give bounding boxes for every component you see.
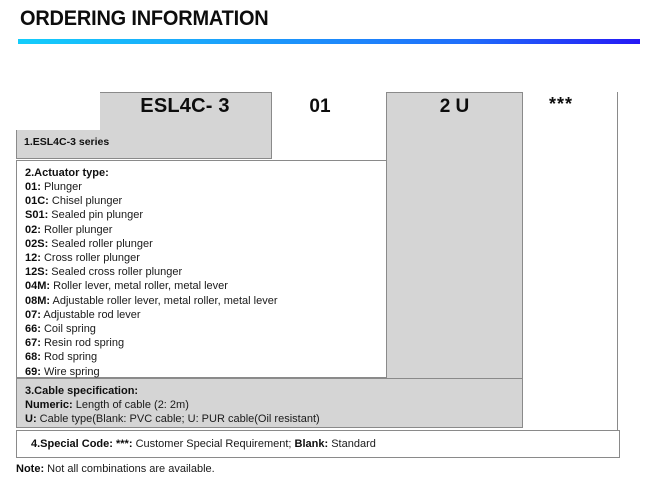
actuator-option-row: 04M: Roller lever, metal roller, metal l… (25, 279, 386, 293)
actuator-option-value: Cross roller plunger (41, 252, 140, 264)
special-blank-description: Standard (331, 438, 376, 450)
actuator-option-value: Resin rod spring (41, 337, 124, 349)
series-code-value: ESL4C- 3 (100, 95, 270, 118)
actuator-option-key: 07: (25, 309, 41, 321)
actuator-option-key: 66: (25, 323, 41, 335)
cable-option-key: Numeric: (25, 399, 73, 411)
actuator-option-row: 02: Roller plunger (25, 223, 386, 237)
note-text: Not all combinations are available. (47, 463, 215, 475)
actuator-option-row: 08M: Adjustable roller lever, metal roll… (25, 294, 386, 308)
actuator-option-key: 02: (25, 224, 41, 236)
actuator-section-heading: 2.Actuator type: (25, 166, 386, 180)
actuator-option-value: Coil spring (41, 323, 96, 335)
cable-section-heading: 3.Cable specification: (25, 384, 522, 398)
special-code-description: Customer Special Requirement; (136, 438, 292, 450)
special-code-key: ***: (116, 438, 133, 450)
actuator-option-key: 12S: (25, 266, 48, 278)
cable-specification-section: 3.Cable specification: Numeric: Length o… (16, 378, 523, 428)
actuator-option-row: 67: Resin rod spring (25, 336, 386, 350)
actuator-option-value: Roller lever, metal roller, metal lever (50, 280, 228, 292)
ordering-information-page: ORDERING INFORMATION ESL4C- 3 1.ESL4C-3 … (0, 0, 650, 490)
note-line: Note: Not all combinations are available… (16, 463, 215, 475)
actuator-option-row: 12S: Sealed cross roller plunger (25, 265, 386, 279)
cable-option-row: Numeric: Length of cable (2: 2m) (25, 398, 522, 412)
cable-option-value: Cable type(Blank: PVC cable; U: PUR cabl… (37, 413, 320, 425)
actuator-type-section: 2.Actuator type: 01: Plunger01C: Chisel … (16, 160, 387, 378)
actuator-option-value: Sealed pin plunger (48, 209, 143, 221)
actuator-option-row: 66: Coil spring (25, 322, 386, 336)
actuator-code-value: 01 (296, 96, 344, 118)
actuator-option-key: 69: (25, 366, 41, 378)
special-code-section: 4.Special Code: ***: Customer Special Re… (16, 430, 620, 458)
actuator-option-value: Sealed cross roller plunger (48, 266, 182, 278)
actuator-option-row: 07: Adjustable rod lever (25, 308, 386, 322)
note-key: Note: (16, 463, 44, 475)
actuator-option-value: Rod spring (41, 351, 97, 363)
actuator-option-value: Sealed roller plunger (48, 238, 153, 250)
cable-option-value: Length of cable (2: 2m) (73, 399, 189, 411)
cable-option-list: Numeric: Length of cable (2: 2m)U: Cable… (25, 398, 522, 426)
special-code-line: 4.Special Code: ***: Customer Special Re… (31, 437, 619, 451)
actuator-option-value: Roller plunger (41, 224, 113, 236)
actuator-option-row: 01: Plunger (25, 180, 386, 194)
actuator-option-value: Chisel plunger (49, 195, 122, 207)
actuator-option-row: 69: Wire spring (25, 365, 386, 379)
actuator-option-key: 12: (25, 252, 41, 264)
actuator-option-key: 67: (25, 337, 41, 349)
actuator-option-key: 08M: (25, 295, 50, 307)
special-code-divider (617, 92, 618, 430)
ordering-code-diagram: ESL4C- 3 1.ESL4C-3 series 01 2 U *** 2.A… (0, 0, 650, 490)
actuator-option-key: S01: (25, 209, 48, 221)
actuator-option-key: 02S: (25, 238, 48, 250)
special-blank-key: Blank: (295, 438, 329, 450)
actuator-option-row: S01: Sealed pin plunger (25, 208, 386, 222)
actuator-option-key: 04M: (25, 280, 50, 292)
actuator-option-key: 68: (25, 351, 41, 363)
actuator-option-list: 01: Plunger01C: Chisel plungerS01: Seale… (25, 180, 386, 379)
special-code-value: *** (533, 95, 589, 113)
special-section-heading: 4.Special Code: (31, 438, 113, 450)
cable-code-value: 2 U (386, 96, 523, 118)
actuator-option-value: Wire spring (41, 366, 100, 378)
actuator-option-row: 01C: Chisel plunger (25, 194, 386, 208)
actuator-option-row: 68: Rod spring (25, 350, 386, 364)
actuator-option-row: 12: Cross roller plunger (25, 251, 386, 265)
series-label: 1.ESL4C-3 series (24, 136, 109, 148)
actuator-option-value: Adjustable roller lever, metal roller, m… (50, 295, 277, 307)
actuator-option-key: 01: (25, 181, 41, 193)
cable-option-row: U: Cable type(Blank: PVC cable; U: PUR c… (25, 412, 522, 426)
actuator-option-value: Adjustable rod lever (41, 309, 141, 321)
cable-option-key: U: (25, 413, 37, 425)
actuator-option-key: 01C: (25, 195, 49, 207)
actuator-option-value: Plunger (41, 181, 82, 193)
actuator-option-row: 02S: Sealed roller plunger (25, 237, 386, 251)
